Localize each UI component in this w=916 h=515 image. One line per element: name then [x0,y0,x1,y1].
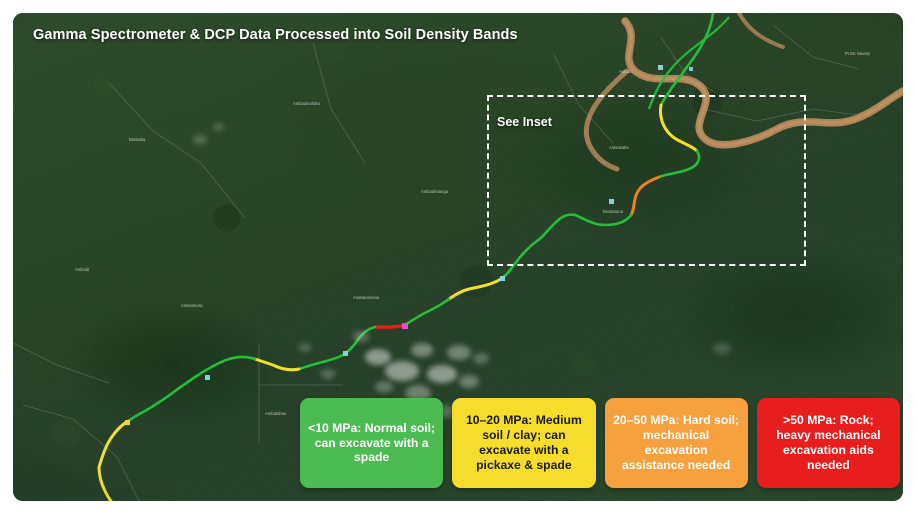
inset-label: See Inset [497,115,552,129]
map-panel[interactable]: Betsiaka Ambodi Antanimora Ambatoboe And… [13,13,903,501]
legend-item-medium[interactable]: 10–20 MPa: Medium soil / clay; can excav… [452,398,595,488]
legend-item-hard[interactable]: 20–50 MPa: Hard soil; mechanical excavat… [605,398,748,488]
legend-item-normal[interactable]: <10 MPa: Normal soil; can excavate with … [300,398,443,488]
legend: <10 MPa: Normal soil; can excavate with … [300,398,900,488]
legend-item-rock[interactable]: >50 MPa: Rock; heavy mechanical excavati… [757,398,900,488]
screenshot-root: Betsiaka Ambodi Antanimora Ambatoboe And… [0,0,916,515]
page-title: Gamma Spectrometer & DCP Data Processed … [33,27,518,43]
